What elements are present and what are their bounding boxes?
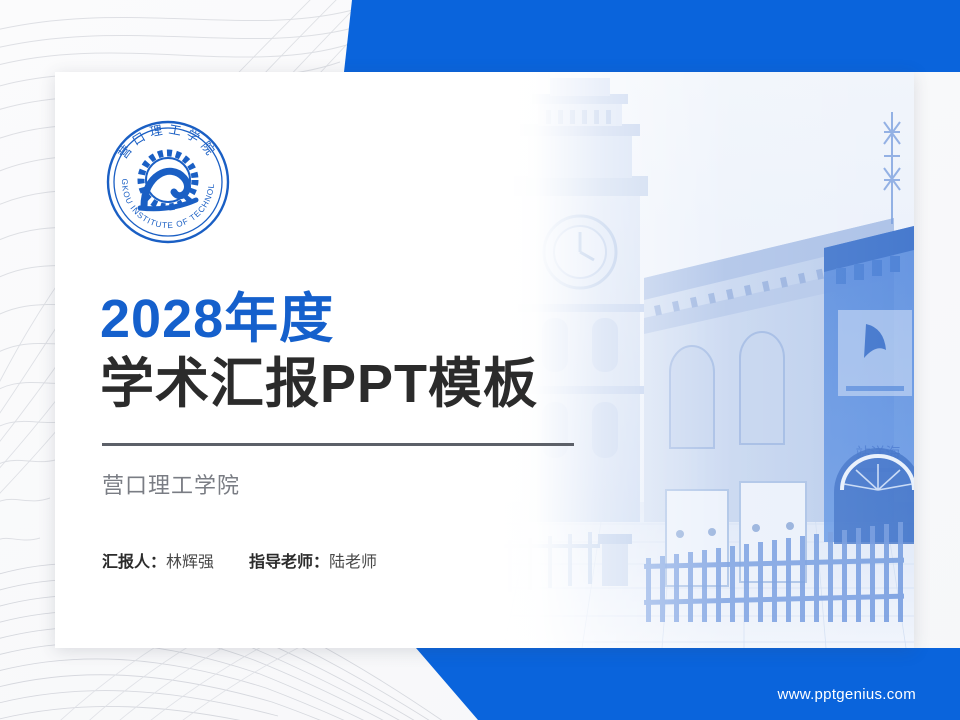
reporter-name: 林辉强 bbox=[166, 554, 214, 571]
title-year: 2028年度 bbox=[100, 290, 800, 349]
top-blue-banner bbox=[0, 0, 960, 80]
university-logo: 营口理工学院 YINGKOU INSTITUTE OF TECHNOLOGY bbox=[100, 114, 236, 250]
presenter-info: 汇报人：林辉强 指导老师：陆老师 bbox=[102, 548, 800, 572]
reporter-label: 汇报人： bbox=[102, 554, 166, 571]
title-main: 学术汇报PPT模板 bbox=[100, 353, 800, 417]
advisor-name: 陆老师 bbox=[329, 554, 377, 571]
footer-website[interactable]: www.pptgenius.com bbox=[778, 686, 917, 703]
content-card: 站洋海 bbox=[55, 72, 914, 648]
bottom-blue-banner bbox=[0, 640, 960, 720]
advisor-label: 指导老师： bbox=[249, 554, 329, 571]
organization-name: 营口理工学院 bbox=[102, 468, 800, 500]
presentation-slide: 站洋海 bbox=[0, 0, 960, 720]
title-block: 2028年度 学术汇报PPT模板 营口理工学院 汇报人：林辉强 指导老师：陆老师 bbox=[100, 290, 800, 572]
title-divider bbox=[102, 443, 574, 446]
